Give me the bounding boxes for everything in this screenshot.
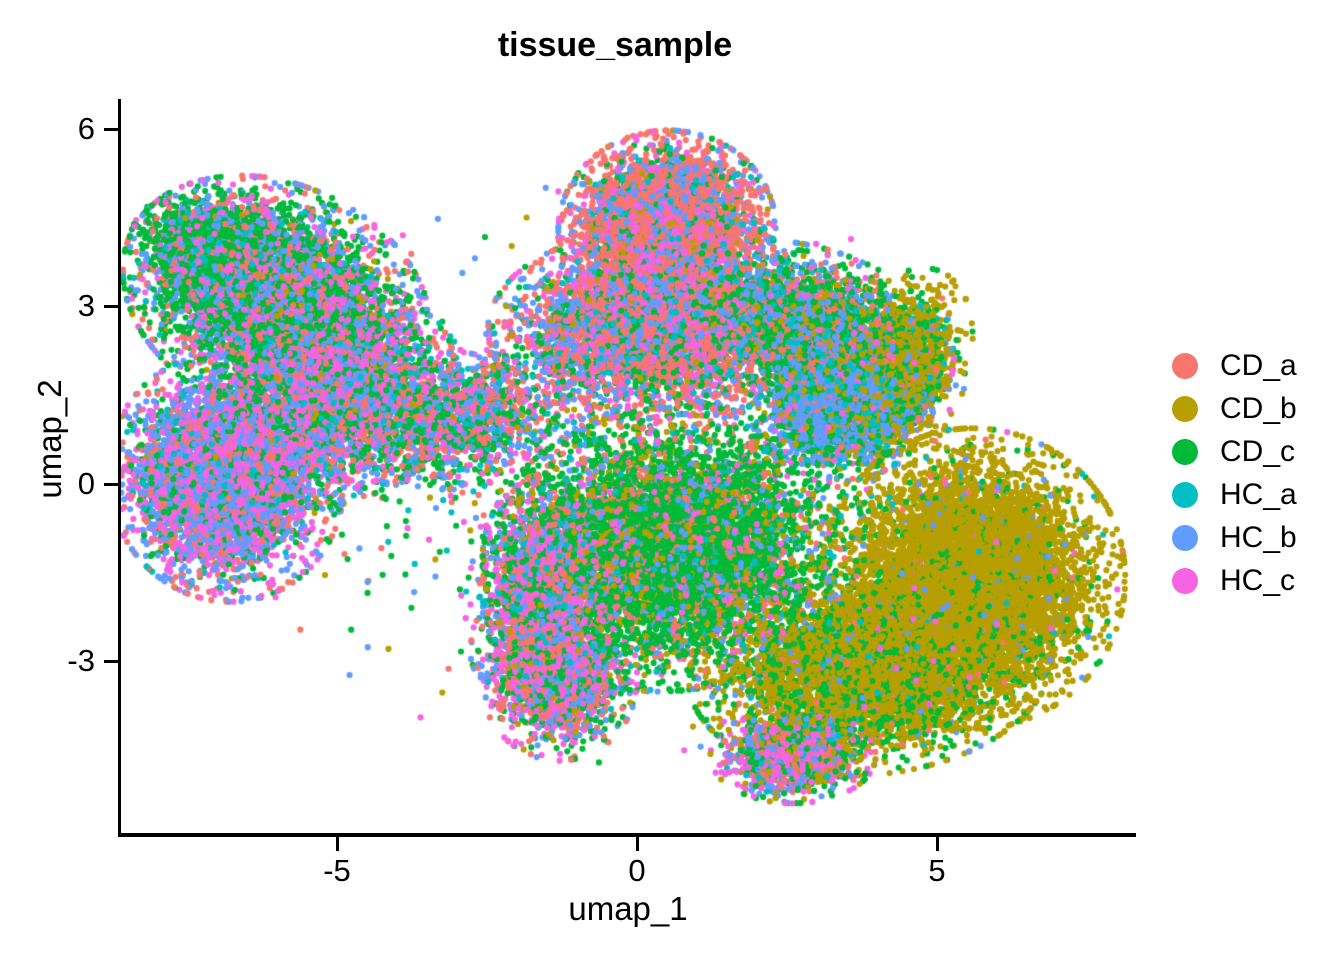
legend-swatch-icon (1172, 396, 1198, 422)
plot-panel (121, 99, 1135, 833)
y-tick-label: 3 (78, 290, 95, 321)
scatter-points-canvas (121, 99, 1135, 833)
x-axis-line (118, 833, 1136, 837)
legend-item-label: CD_c (1220, 435, 1295, 469)
legend-swatch-icon (1172, 353, 1198, 379)
y-tick-mark (104, 483, 119, 486)
y-tick-label: -3 (67, 645, 95, 676)
legend-swatch-icon (1172, 568, 1198, 594)
legend-item-hc_a[interactable]: HC_a (1172, 473, 1297, 516)
legend-item-cd_b[interactable]: CD_b (1172, 387, 1297, 430)
umap-scatter-plot: tissue_sample 630-3 -505 umap_1 umap_2 C… (0, 0, 1344, 960)
legend-item-hc_b[interactable]: HC_b (1172, 516, 1297, 559)
y-tick-mark (104, 305, 119, 308)
legend-item-label: CD_a (1220, 349, 1297, 383)
x-tick-mark (636, 836, 639, 851)
legend-swatch-icon (1172, 525, 1198, 551)
legend-item-label: HC_a (1220, 478, 1297, 512)
x-tick-mark (936, 836, 939, 851)
x-tick-label: -5 (297, 855, 377, 886)
x-tick-mark (336, 836, 339, 851)
legend-item-hc_c[interactable]: HC_c (1172, 559, 1297, 602)
y-tick-mark (104, 660, 119, 663)
page-title: tissue_sample (0, 26, 1230, 65)
y-tick-label: 0 (78, 468, 95, 499)
y-axis-title: umap_2 (31, 359, 69, 519)
legend-swatch-icon (1172, 439, 1198, 465)
y-tick-mark (104, 128, 119, 131)
y-tick-label: 6 (78, 113, 95, 144)
x-axis-title: umap_1 (121, 890, 1135, 928)
legend-item-label: HC_c (1220, 564, 1295, 598)
x-tick-label: 0 (597, 855, 677, 886)
legend-swatch-icon (1172, 482, 1198, 508)
legend-item-label: CD_b (1220, 392, 1297, 426)
legend: CD_aCD_bCD_cHC_aHC_bHC_c (1172, 344, 1297, 602)
legend-item-cd_a[interactable]: CD_a (1172, 344, 1297, 387)
legend-item-cd_c[interactable]: CD_c (1172, 430, 1297, 473)
x-tick-label: 5 (897, 855, 977, 886)
legend-item-label: HC_b (1220, 521, 1297, 555)
